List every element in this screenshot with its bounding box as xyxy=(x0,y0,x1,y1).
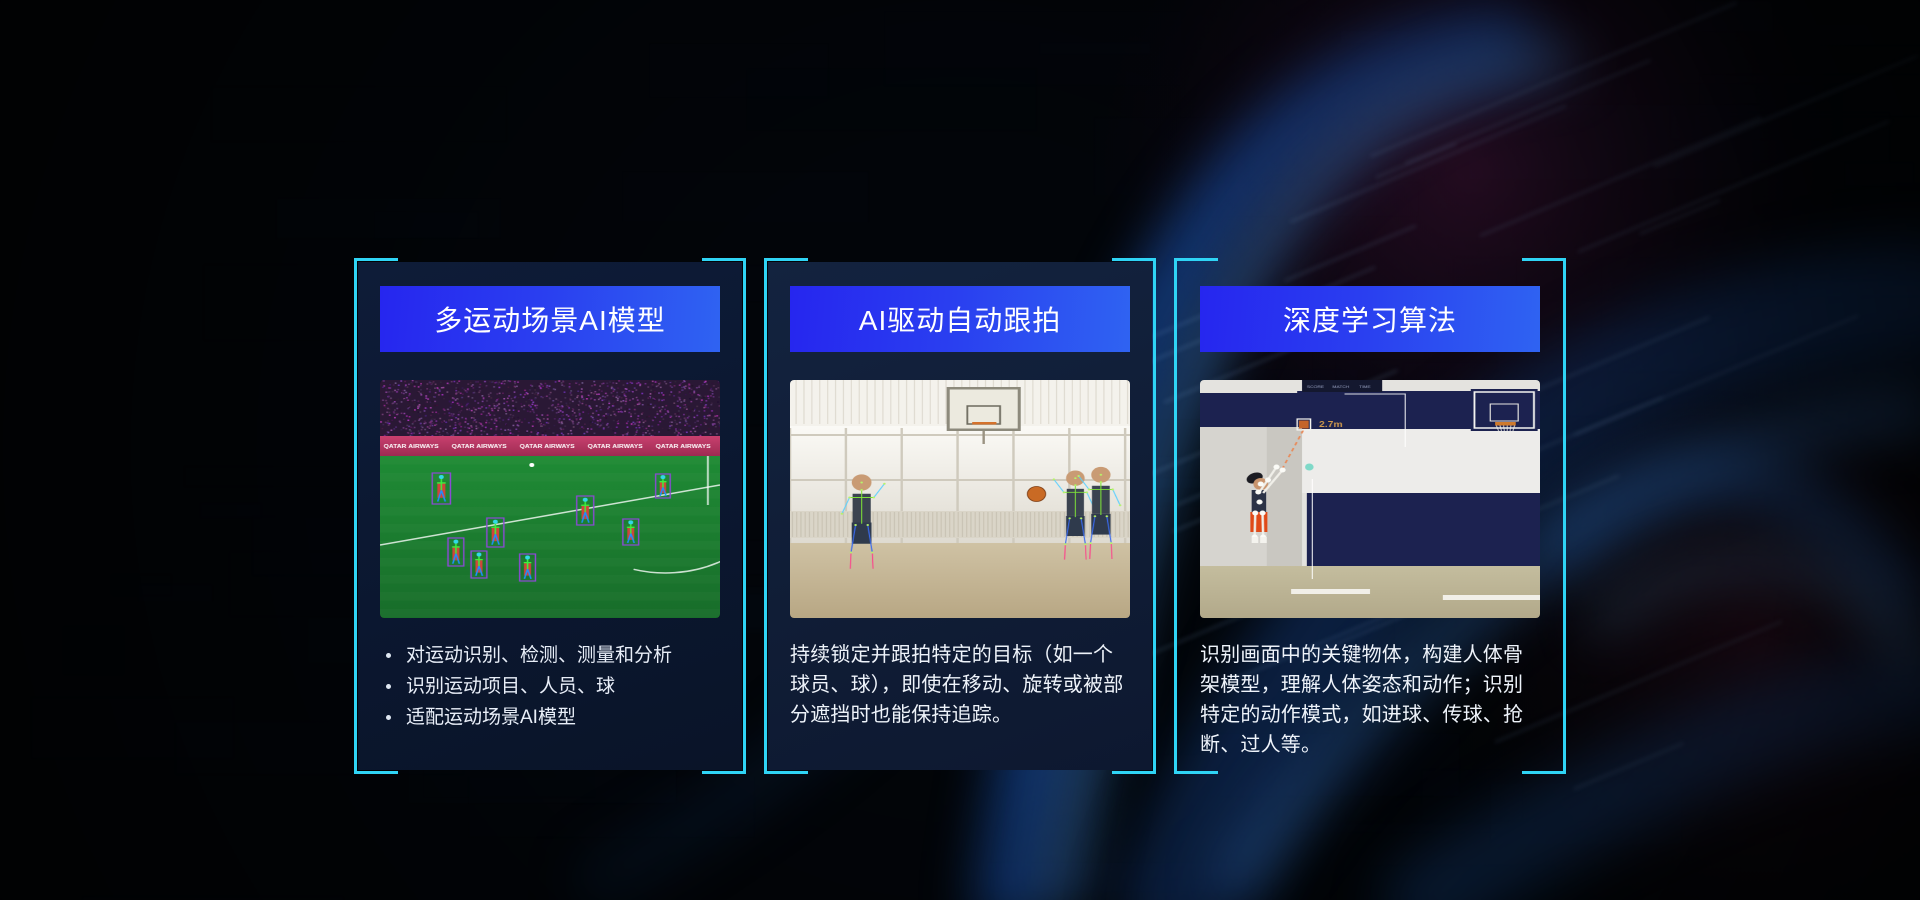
feature-card-multi-sport-ai-model[interactable]: 多运动场景AI模型 对运动识别、检测、测量和分析 识别运动项目、人员、球 适配运… xyxy=(358,262,742,770)
card-body: 识别画面中的关键物体，构建人体骨架模型，理解人体姿态和动作；识别特定的动作模式，… xyxy=(1200,640,1540,760)
card-title: 多运动场景AI模型 xyxy=(434,299,665,339)
soccer-detection-thumbnail xyxy=(380,380,720,618)
feature-card-row: 多运动场景AI模型 对运动识别、检测、测量和分析 识别运动项目、人员、球 适配运… xyxy=(358,262,1562,770)
card-body: 对运动识别、检测、测量和分析 识别运动项目、人员、球 适配运动场景AI模型 xyxy=(380,640,720,733)
card-media-thumbnail[interactable] xyxy=(380,380,720,618)
card-media-thumbnail[interactable] xyxy=(790,380,1130,618)
list-item: 识别运动项目、人员、球 xyxy=(380,671,720,702)
basketball-shot-analysis-thumbnail xyxy=(1200,380,1540,618)
feature-card-deep-learning-algorithm[interactable]: 深度学习算法 识别画面中的关键物体，构建人体骨架模型，理解人体姿态和动作；识别特… xyxy=(1178,262,1562,770)
feature-bullet-list: 对运动识别、检测、测量和分析 识别运动项目、人员、球 适配运动场景AI模型 xyxy=(380,640,720,733)
list-item: 适配运动场景AI模型 xyxy=(380,702,720,733)
card-header-banner: 多运动场景AI模型 xyxy=(380,286,720,352)
card-title: 深度学习算法 xyxy=(1283,299,1457,339)
card-body: 持续锁定并跟拍特定的目标（如一个球员、球），即使在移动、旋转或被部分遮挡时也能保… xyxy=(790,640,1130,730)
card-header-banner: AI驱动自动跟拍 xyxy=(790,286,1130,352)
card-header-banner: 深度学习算法 xyxy=(1200,286,1540,352)
card-title: AI驱动自动跟拍 xyxy=(859,299,1061,339)
gym-pose-tracking-thumbnail xyxy=(790,380,1130,618)
list-item: 对运动识别、检测、测量和分析 xyxy=(380,640,720,671)
card-media-thumbnail[interactable] xyxy=(1200,380,1540,618)
feature-description: 持续锁定并跟拍特定的目标（如一个球员、球），即使在移动、旋转或被部分遮挡时也能保… xyxy=(790,640,1130,730)
feature-card-ai-auto-tracking[interactable]: AI驱动自动跟拍 持续锁定并跟拍特定的目标（如一个球员、球），即使在移动、旋转或… xyxy=(768,262,1152,770)
feature-description: 识别画面中的关键物体，构建人体骨架模型，理解人体姿态和动作；识别特定的动作模式，… xyxy=(1200,640,1540,760)
